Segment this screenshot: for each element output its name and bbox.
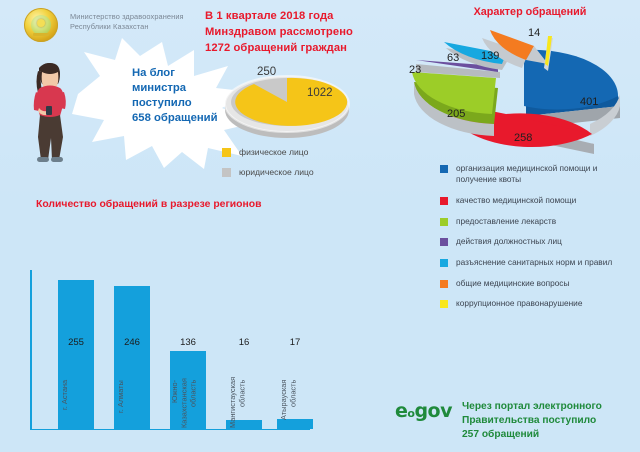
- pie-value-23: 23: [409, 64, 421, 76]
- infographic-canvas: Министерство здравоохранения Республики …: [0, 0, 640, 452]
- legend-swatch-medicines: [440, 218, 448, 226]
- legend-label-individual: физическое лицо: [239, 147, 308, 157]
- bar-label-atyrau: Атырауская область: [279, 380, 313, 428]
- legend-label-officials: действия должностных лиц: [456, 236, 562, 247]
- pie-value-258: 258: [514, 132, 532, 144]
- pie-value-139: 139: [481, 50, 499, 62]
- bar-label-south-kz: Южно-Казахстанская область: [170, 380, 206, 428]
- legend-label-sanitary: разъяснение санитарных норм и правил: [456, 257, 612, 268]
- legend-item: действия должностных лиц: [440, 236, 640, 247]
- egov-logo: eogov: [395, 400, 465, 426]
- pie-value-401: 401: [580, 96, 598, 108]
- legend-label-quality: качество медицинской помощи: [456, 195, 576, 206]
- regions-chart-title: Количество обращений в разрезе регионов: [36, 199, 262, 210]
- appeal-character-title: Характер обращений: [430, 6, 630, 18]
- legend-swatch-organization: [440, 165, 448, 173]
- bar-value-almaty: 246: [114, 337, 150, 348]
- legend-item: качество медицинской помощи: [440, 195, 640, 206]
- headline-line1: В 1 квартале 2018 года: [205, 9, 395, 25]
- egov-line3: 257 обращений: [462, 428, 640, 442]
- legend-item: коррупционное правонарушение: [440, 298, 640, 309]
- bar-value-atyrau: 17: [277, 337, 313, 348]
- legend-swatch-general: [440, 280, 448, 288]
- egov-line2: Правительства поступило: [462, 414, 640, 428]
- legend-swatch-individual: [222, 148, 231, 157]
- woman-illustration: [22, 58, 78, 163]
- egov-logo-text: eogov: [395, 400, 452, 422]
- legend-swatch-legal: [222, 168, 231, 177]
- legend-item: разъяснение санитарных норм и правил: [440, 257, 640, 268]
- legend-swatch-officials: [440, 238, 448, 246]
- legend-item: организация медицинской помощи и получен…: [440, 163, 640, 185]
- pie-label-1022: 1022: [307, 87, 333, 99]
- headline-line3: 1272 обращений граждан: [205, 41, 395, 57]
- legend-label-medicines: предоставление лекарств: [456, 216, 556, 227]
- bar-label-mangystau: Мангистауская область: [228, 380, 262, 428]
- regions-bar-chart: 255 246 136 16 17 г. Астана г. Алматы Юж…: [30, 215, 310, 430]
- applicant-type-pie-chart: 250 1022: [212, 60, 362, 140]
- bar-value-south-kz: 136: [170, 337, 206, 348]
- pie-label-250: 250: [257, 66, 276, 78]
- legend-item: общие медицинские вопросы: [440, 278, 640, 289]
- quarter-headline: В 1 квартале 2018 года Минздравом рассмо…: [205, 9, 395, 57]
- legend-swatch-sanitary: [440, 259, 448, 267]
- applicant-type-legend: физическое лицо юридическое лицо: [222, 147, 352, 187]
- legend-item: предоставление лекарств: [440, 216, 640, 227]
- y-axis: [30, 270, 32, 430]
- legend-label-general: общие медицинские вопросы: [456, 278, 569, 289]
- x-axis: [30, 429, 310, 431]
- bar-label-almaty: г. Алматы: [116, 380, 125, 428]
- legend-swatch-quality: [440, 197, 448, 205]
- bar-value-mangystau: 16: [226, 337, 262, 348]
- headline-line2: Минздравом рассмотрено: [205, 25, 395, 41]
- kazakhstan-emblem-icon: [24, 8, 58, 42]
- legend-swatch-corruption: [440, 300, 448, 308]
- egov-caption: Через портал электронного Правительства …: [462, 400, 640, 441]
- legend-item: юридическое лицо: [222, 167, 352, 177]
- bar-value-astana: 255: [58, 337, 94, 348]
- appeal-character-pie-chart: 401 258 205 23 63 139 14: [398, 20, 640, 170]
- pie-value-63: 63: [447, 52, 459, 64]
- legend-label-organization: организация медицинской помощи и получен…: [456, 163, 640, 185]
- legend-label-legal: юридическое лицо: [239, 167, 314, 177]
- legend-label-corruption: коррупционное правонарушение: [456, 298, 582, 309]
- legend-item: физическое лицо: [222, 147, 352, 157]
- pie-value-14: 14: [528, 27, 540, 39]
- bar-label-astana: г. Астана: [60, 380, 69, 428]
- egov-line1: Через портал электронного: [462, 400, 640, 414]
- appeal-character-legend: организация медицинской помощи и получен…: [440, 163, 640, 319]
- pie-value-205: 205: [447, 108, 465, 120]
